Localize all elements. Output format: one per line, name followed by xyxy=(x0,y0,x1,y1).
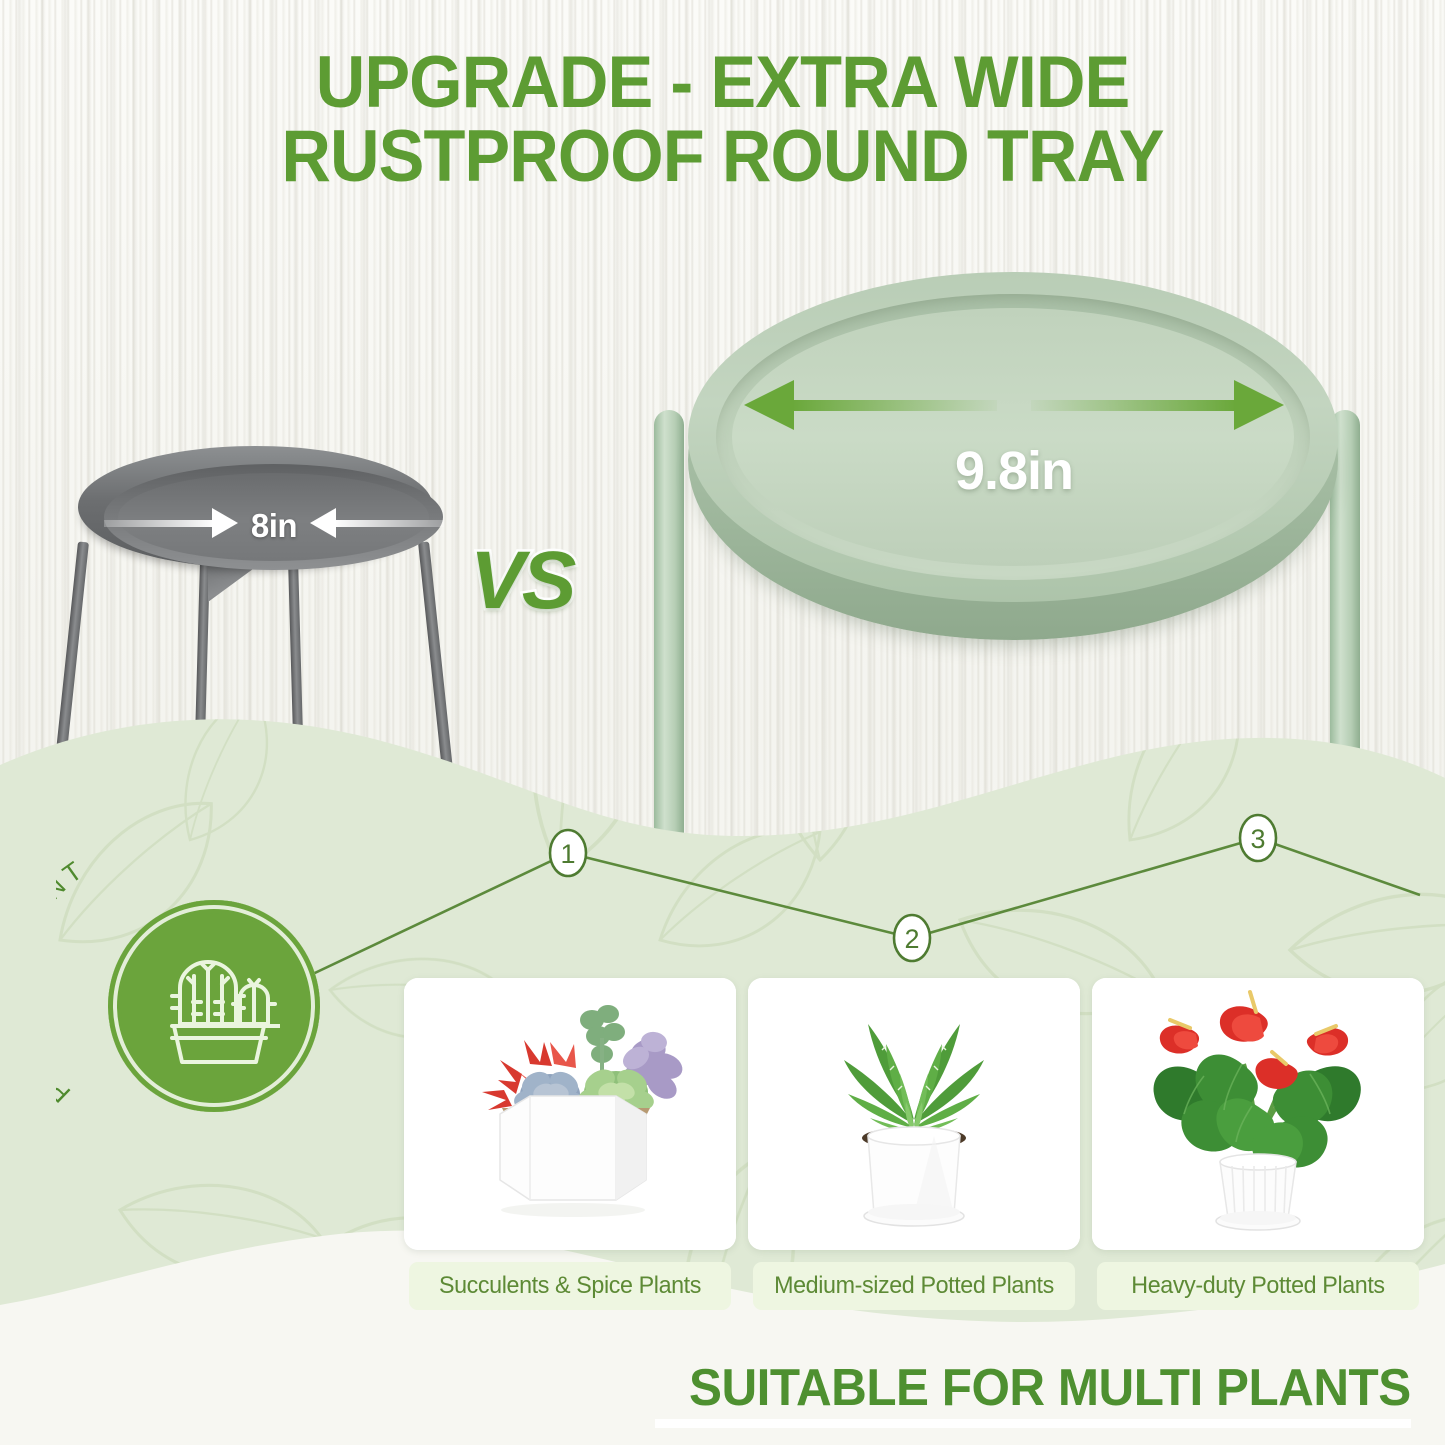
plant-card[interactable] xyxy=(1092,978,1424,1250)
page-title-line1: UPGRADE - EXTRA WIDE xyxy=(316,42,1130,123)
plant-card[interactable] xyxy=(404,978,736,1250)
infographic-root: UPGRADE - EXTRA WIDE RUSTPROOF ROUND TRA… xyxy=(0,0,1445,1445)
gray-dimension-indicator: 8in xyxy=(104,506,444,540)
svg-text:POTTED PLANT: POTTED PLANT xyxy=(56,853,92,1109)
dimension-arrow-bar-right xyxy=(1031,400,1236,411)
vs-badge: VS xyxy=(470,534,573,628)
old-product-dimension-label: 8in xyxy=(104,507,444,545)
gray-tray: 8in xyxy=(78,446,433,568)
footer-banner-underline xyxy=(655,1419,1411,1428)
dimension-arrow-head-right-pointing xyxy=(1234,380,1284,430)
aloe-vera-plant-photo xyxy=(748,978,1080,1250)
plant-caption-chip: Succulents & Spice Plants xyxy=(409,1262,731,1310)
green-tray-surface xyxy=(732,308,1294,566)
page-title: UPGRADE - EXTRA WIDE RUSTPROOF ROUND TRA… xyxy=(43,46,1401,195)
plant-caption-chip: Medium-sized Potted Plants xyxy=(753,1262,1075,1310)
plant-caption-list: Succulents & Spice Plants Medium-sized P… xyxy=(404,1262,1424,1310)
dimension-arrow-head-left-pointing xyxy=(744,380,794,430)
dimension-arrow-bar-left xyxy=(792,400,997,411)
plant-card[interactable] xyxy=(748,978,1080,1250)
new-product-dimension-label: 9.8in xyxy=(744,440,1284,502)
plant-card-list xyxy=(404,978,1424,1250)
potted-plant-badge: POTTED PLANT xyxy=(108,900,320,1112)
page-title-line2: RUSTPROOF ROUND TRAY xyxy=(281,116,1163,197)
succulent-arrangement-photo xyxy=(404,978,736,1250)
green-dimension-indicator: 9.8in xyxy=(744,380,1284,430)
footer-banner: SUITABLE FOR MULTI PLANTS xyxy=(689,1358,1411,1418)
red-anthurium-plant-photo xyxy=(1092,978,1424,1250)
cactus-in-pot-icon xyxy=(148,940,280,1072)
plant-caption-chip: Heavy-duty Potted Plants xyxy=(1097,1262,1419,1310)
